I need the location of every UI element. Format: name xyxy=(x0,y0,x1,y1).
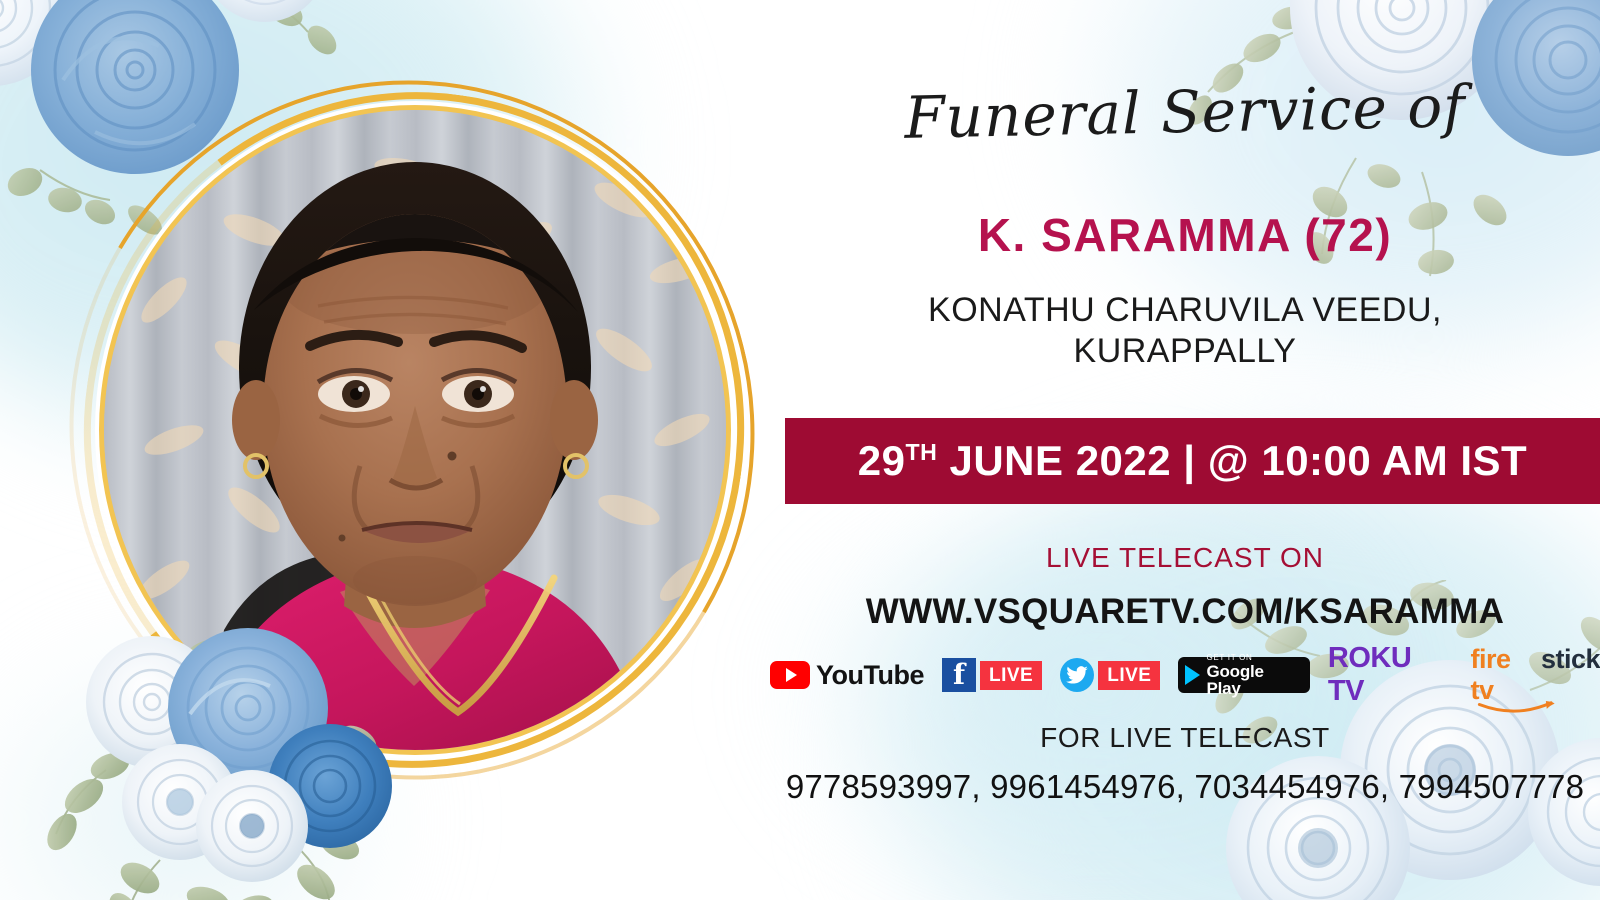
google-play-badge: GET IT ON Google Play xyxy=(1178,657,1309,693)
contact-phone-numbers[interactable]: 9778593997, 9961454976, 7034454976, 7994… xyxy=(735,768,1600,806)
google-play-small-label: GET IT ON xyxy=(1206,654,1299,662)
twitter-live-badge: LIVE xyxy=(1098,661,1160,690)
portrait-frame xyxy=(62,52,762,812)
date-ordinal-suffix: TH xyxy=(906,439,938,465)
funeral-announcement-poster: Funeral Service of K. SARAMMA (72) KONAT… xyxy=(0,0,1600,900)
fire-tv-stick-label: stick xyxy=(1541,644,1600,675)
facebook-live-badge: LIVE xyxy=(980,661,1042,690)
announcement-content: Funeral Service of K. SARAMMA (72) KONAT… xyxy=(770,0,1600,900)
youtube-icon xyxy=(770,661,810,689)
google-play-label: Google Play xyxy=(1206,663,1299,697)
portrait-photo xyxy=(104,110,726,750)
date-day: 29 xyxy=(858,437,906,484)
youtube-label: YouTube xyxy=(816,660,924,691)
platform-google-play[interactable]: GET IT ON Google Play xyxy=(1178,658,1309,692)
platform-fire-tv-stick[interactable]: fire tv stick xyxy=(1470,658,1600,692)
telecast-url[interactable]: WWW.VSQUARETV.COM/KSARAMMA xyxy=(770,592,1600,632)
platform-twitter-live[interactable]: LIVE xyxy=(1060,658,1160,692)
deceased-name: K. SARAMMA (72) xyxy=(770,208,1600,262)
service-date-banner: 29TH JUNE 2022 | @ 10:00 AM IST xyxy=(785,418,1600,504)
google-play-icon xyxy=(1185,665,1200,685)
facebook-f-mark: f xyxy=(953,661,965,689)
fire-tv-label: fire tv xyxy=(1470,644,1537,706)
platform-logo-strip: YouTube f LIVE LIVE xyxy=(770,652,1600,698)
platform-facebook-live[interactable]: f LIVE xyxy=(942,658,1042,692)
address-line-2: KURAPPALLY xyxy=(770,331,1600,372)
date-remainder: JUNE 2022 | @ 10:00 AM IST xyxy=(949,437,1527,484)
platform-roku-tv[interactable]: ROKU TV xyxy=(1328,658,1453,692)
funeral-service-heading: Funeral Service of xyxy=(769,69,1600,154)
facebook-icon: f xyxy=(942,658,976,692)
live-telecast-heading: LIVE TELECAST ON xyxy=(770,542,1600,574)
twitter-icon xyxy=(1060,658,1094,692)
address-line-1: KONATHU CHARUVILA VEEDU, xyxy=(770,290,1600,331)
amazon-smile-icon xyxy=(1474,701,1560,715)
platform-youtube[interactable]: YouTube xyxy=(770,658,924,692)
deceased-address: KONATHU CHARUVILA VEEDU, KURAPPALLY xyxy=(770,290,1600,373)
portrait-subject xyxy=(104,110,726,750)
roku-icon: ROKU TV xyxy=(1328,642,1453,708)
service-date-text: 29TH JUNE 2022 | @ 10:00 AM IST xyxy=(858,437,1527,485)
fire-tv-icon: fire tv stick xyxy=(1470,644,1600,706)
contact-heading: FOR LIVE TELECAST xyxy=(770,722,1600,754)
